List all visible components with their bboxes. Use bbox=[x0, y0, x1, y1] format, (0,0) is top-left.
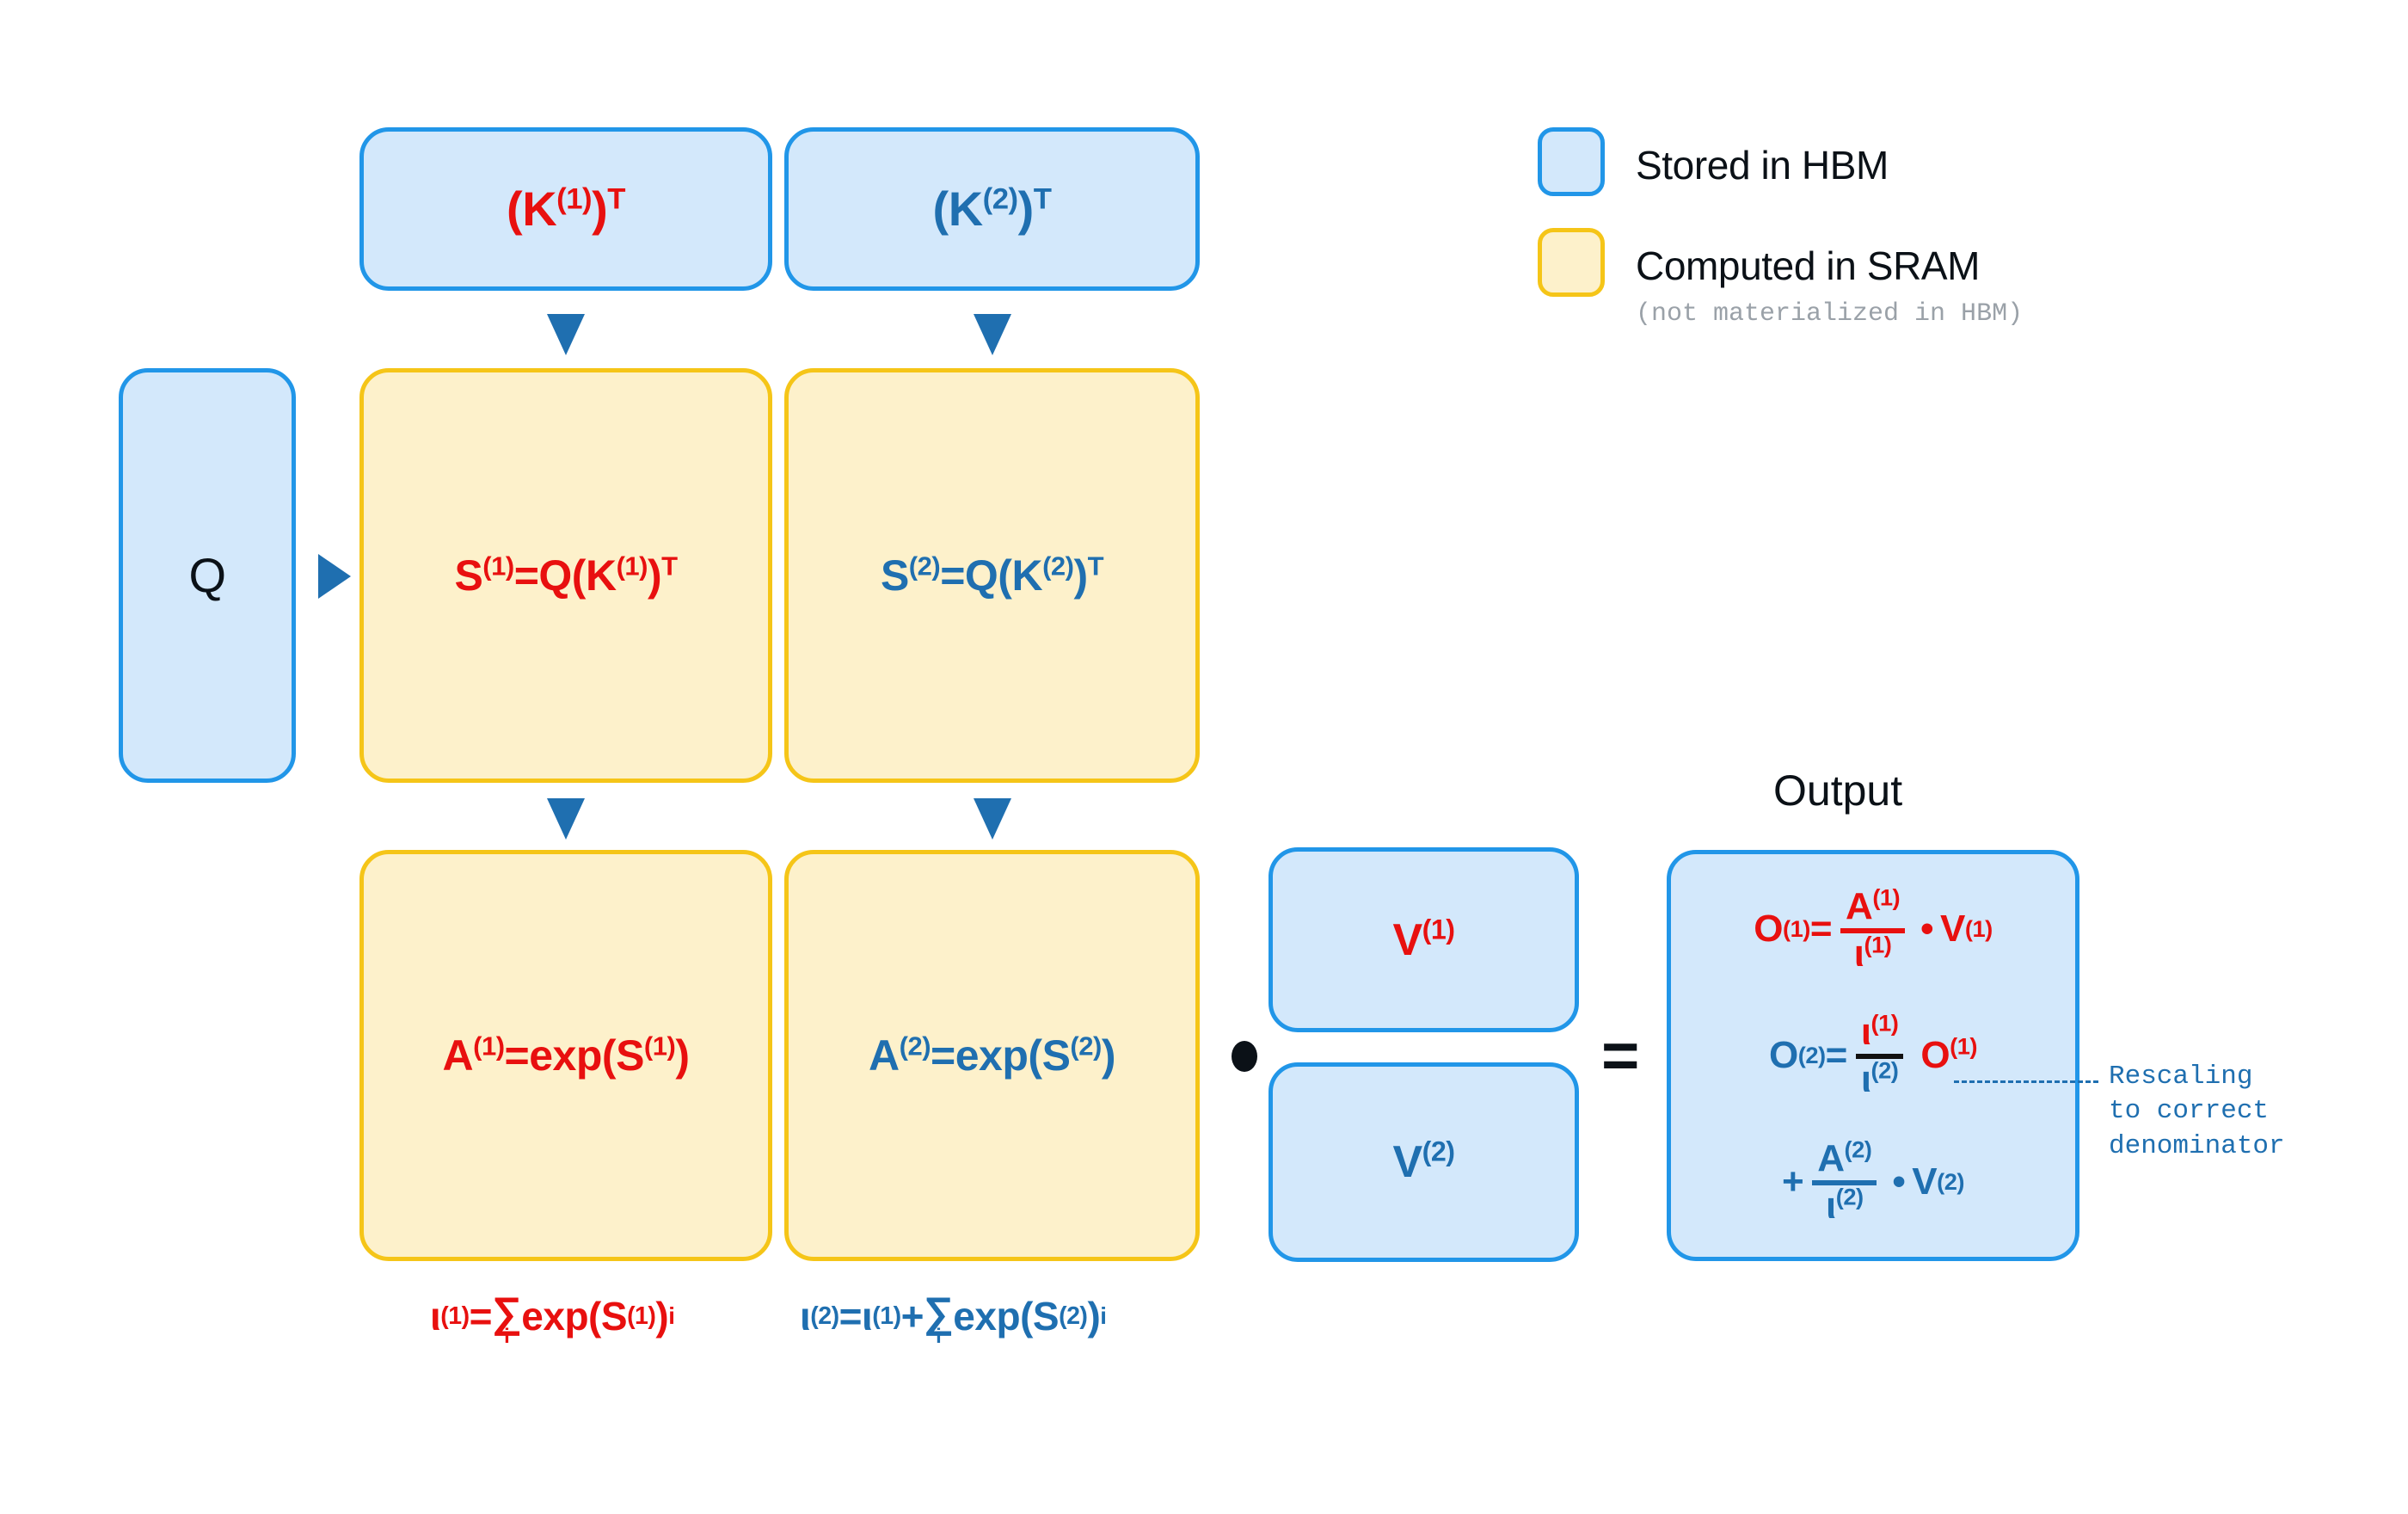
superscript-1: (1) bbox=[556, 182, 592, 215]
arrow-s1-to-a1 bbox=[547, 798, 585, 840]
formula-a1: A(1)=exp(S(1)) bbox=[443, 1034, 690, 1077]
symbol-A: A bbox=[443, 1031, 474, 1080]
superscript-T: T bbox=[607, 182, 625, 215]
symbol-plus: + bbox=[1782, 1163, 1803, 1201]
symbol-V: V bbox=[1392, 1137, 1422, 1187]
symbol-V: V bbox=[1392, 915, 1422, 965]
arrow-s2-to-a2 bbox=[974, 798, 1011, 840]
formula-k1-transpose: (K(1))T bbox=[507, 185, 625, 233]
dot-product-operator bbox=[1232, 1041, 1257, 1072]
output-title: Output bbox=[1773, 766, 1902, 815]
box-a2: A(2)=exp(S(2)) bbox=[784, 850, 1200, 1261]
formula-s2: S(2)=Q(K(2))T bbox=[881, 554, 1103, 597]
box-a1: A(1)=exp(S(1)) bbox=[359, 850, 772, 1261]
box-k2-transpose: (K(2))T bbox=[784, 127, 1200, 291]
symbol-S: S bbox=[881, 551, 909, 600]
formula-a2: A(2)=exp(S(2)) bbox=[869, 1034, 1115, 1077]
formula-l2: ι(2)= ι(1)+ ∑ i exp(S(2))i bbox=[800, 1290, 1106, 1341]
symbol-dot: • bbox=[1892, 1163, 1905, 1201]
diagram-canvas: Stored in HBM Computed in SRAM (not mate… bbox=[0, 0, 2408, 1514]
summation-operator: ∑ i bbox=[492, 1296, 521, 1346]
legend-swatch-stored-in-hbm bbox=[1538, 127, 1605, 196]
superscript-2: (2) bbox=[983, 182, 1018, 215]
symbol-K: K bbox=[522, 182, 556, 236]
box-v1: V(1) bbox=[1268, 847, 1579, 1032]
symbol-S: S bbox=[454, 551, 482, 600]
equals-sign: = bbox=[1601, 1024, 1639, 1089]
box-output: O(1)= A(1) ι(1) • V(1) O(2)= ι(1) ι(2) O… bbox=[1667, 850, 2079, 1261]
formula-q: Q bbox=[188, 551, 225, 600]
symbol-O: O bbox=[1769, 1037, 1798, 1074]
box-k1-transpose: (K(1))T bbox=[359, 127, 772, 291]
arrow-q-to-s1 bbox=[318, 554, 351, 599]
formula-output-o2-line1: O(2)= ι(1) ι(2) O(1) bbox=[1769, 1012, 1977, 1098]
arrow-k1-to-s1 bbox=[547, 314, 585, 355]
annotation-rescaling-note: Rescaling to correct denominator bbox=[2109, 1060, 2285, 1164]
box-q: Q bbox=[119, 368, 296, 783]
summation-operator: ∑ i bbox=[924, 1296, 953, 1346]
formula-output-o2-line2: + A(2) ι(2) • V(2) bbox=[1782, 1139, 1964, 1224]
formula-s1: S(1)=Q(K(1))T bbox=[454, 554, 677, 597]
fraction-l1-over-l2: ι(1) ι(2) bbox=[1856, 1013, 1904, 1099]
symbol-O: O bbox=[1754, 910, 1783, 948]
fraction-a2-over-l2: A(2) ι(2) bbox=[1812, 1140, 1877, 1225]
legend-label-computed-in-sram: Computed in SRAM bbox=[1636, 243, 1980, 289]
annotation-leader-line bbox=[1954, 1080, 2098, 1083]
legend-sublabel-not-materialized: (not materialized in HBM) bbox=[1636, 299, 2023, 329]
box-s1: S(1)=Q(K(1))T bbox=[359, 368, 772, 783]
symbol-K: K bbox=[949, 182, 983, 236]
symbol-O-red: O(1) bbox=[1920, 1037, 1977, 1074]
symbol-A: A bbox=[869, 1031, 900, 1080]
legend-swatch-computed-in-sram bbox=[1538, 228, 1605, 297]
superscript-T: T bbox=[1034, 182, 1052, 215]
formula-k2-transpose: (K(2))T bbox=[933, 185, 1052, 233]
box-s2: S(2)=Q(K(2))T bbox=[784, 368, 1200, 783]
formula-l1: ι(1)= ∑ i exp(S(1))i bbox=[430, 1290, 674, 1341]
formula-v1: V(1) bbox=[1392, 918, 1454, 963]
legend-label-stored-in-hbm: Stored in HBM bbox=[1636, 142, 1889, 188]
formula-v2: V(2) bbox=[1392, 1140, 1454, 1185]
symbol-dot: • bbox=[1920, 910, 1933, 948]
arrow-k2-to-s2 bbox=[974, 314, 1011, 355]
fraction-a1-over-l1: A(1) ι(1) bbox=[1840, 888, 1905, 973]
box-v2: V(2) bbox=[1268, 1062, 1579, 1262]
formula-output-o1: O(1)= A(1) ι(1) • V(1) bbox=[1754, 887, 1992, 972]
